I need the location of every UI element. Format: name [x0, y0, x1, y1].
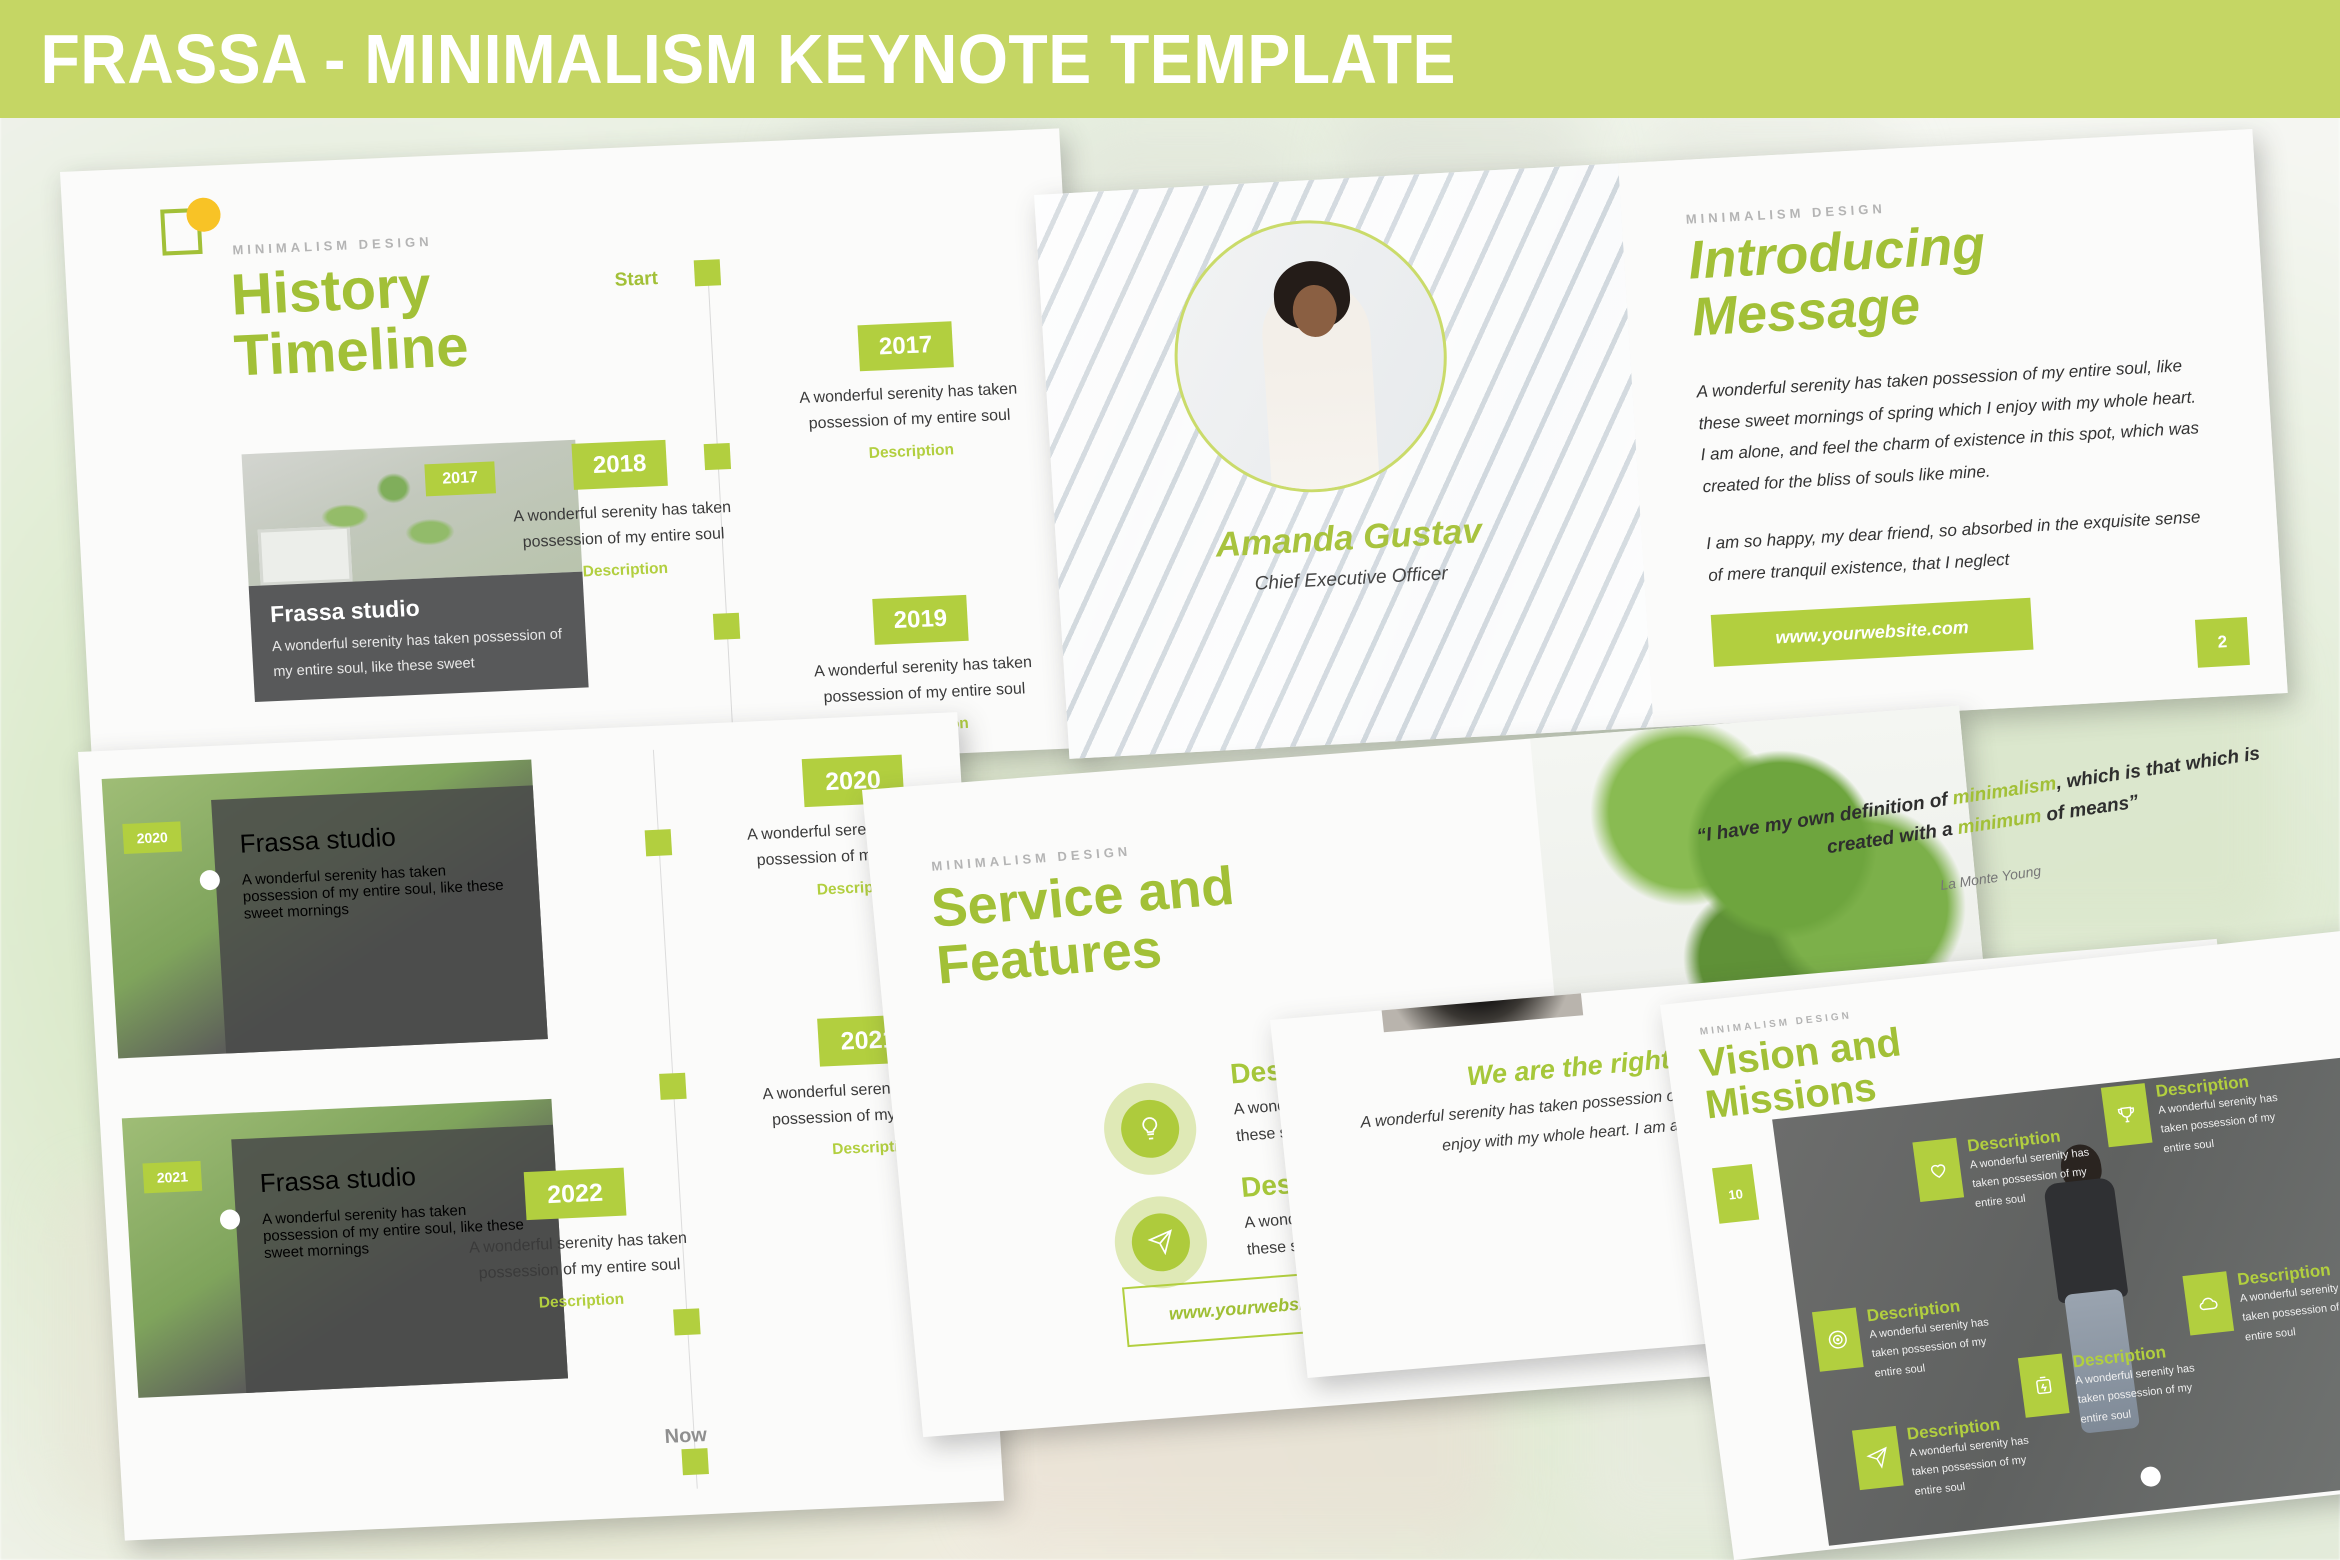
- timeline-node: [713, 613, 740, 640]
- paper-plane-icon: [1111, 1193, 1211, 1292]
- timeline-item-link[interactable]: Description: [766, 437, 1057, 468]
- timeline-item-text: A wonderful serenity has taken possessio…: [427, 1224, 730, 1290]
- poster-title: FRASSA - MINIMALISM KEYNOTE TEMPLATE: [0, 19, 1456, 99]
- slide1-eyebrow: MINIMALISM DESIGN: [232, 234, 433, 258]
- timeline-row-body: A wonderful serenity has taken possessio…: [241, 859, 514, 922]
- timeline-year-badge: 2017: [857, 321, 953, 371]
- slide2-content: MINIMALISM DESIGN Introducing Message A …: [1618, 129, 2288, 727]
- slide3-timeline-axis: [653, 750, 698, 1489]
- poster-canvas: FRASSA - MINIMALISM KEYNOTE TEMPLATE MIN…: [0, 0, 2340, 1560]
- timeline-item-text: A wonderful serenity has taken possessio…: [477, 493, 770, 558]
- timeline-item[interactable]: 2018 A wonderful serenity has taken poss…: [474, 436, 771, 586]
- slide-vision-and-missions[interactable]: MINIMALISM DESIGN Vision and Missions 10…: [1660, 929, 2340, 1560]
- timeline-year-badge: 2019: [872, 595, 968, 645]
- timeline-node: [673, 1308, 701, 1335]
- paper-plane-icon: [1852, 1426, 1904, 1490]
- slide7-dot-icon: [2139, 1466, 2162, 1488]
- slide7-page-number: 10: [1712, 1164, 1759, 1224]
- slide-introducing-message[interactable]: Amanda Gustav Chief Executive Officer MI…: [1034, 129, 2288, 759]
- vision-card[interactable]: Description A wonderful serenity has tak…: [1812, 1292, 2009, 1389]
- slide4-title: Service and Features: [929, 858, 1242, 995]
- quote-highlight-minimalism: minimalism: [1951, 773, 2057, 809]
- timeline-node: [681, 1448, 709, 1475]
- timeline-item[interactable]: 2017 A wonderful serenity has taken poss…: [760, 317, 1057, 467]
- timeline-node: [645, 829, 673, 856]
- timeline-node: [694, 259, 721, 286]
- vision-card[interactable]: Description A wonderful serenity has tak…: [2101, 1068, 2298, 1165]
- slide-history-timeline[interactable]: MINIMALISM DESIGN History Timeline 2017 …: [60, 128, 1093, 791]
- timeline-row: 2020 Frassa studio A wonderful serenity …: [102, 759, 548, 1058]
- vision-card[interactable]: Description A wonderful serenity has tak…: [2182, 1256, 2340, 1353]
- slide1-card-heading: Frassa studio: [270, 588, 565, 628]
- slide2-paragraph-1: A wonderful serenity has taken possessio…: [1696, 350, 2204, 503]
- slide1-info-card: Frassa studio A wonderful serenity has t…: [249, 572, 589, 702]
- slide3-now-label: Now: [664, 1424, 708, 1449]
- slide2-page-number: 2: [2195, 617, 2250, 668]
- slide2-title: Introducing Message: [1687, 206, 2194, 347]
- timeline-year-badge: 2018: [571, 440, 667, 490]
- slide1-start-label: Start: [614, 268, 658, 292]
- vision-card[interactable]: Description A wonderful serenity has tak…: [1852, 1410, 2049, 1507]
- heart-icon: [1912, 1138, 1964, 1202]
- timeline-item-link[interactable]: Description: [480, 555, 771, 586]
- timeline-row-heading: Frassa studio: [239, 817, 511, 860]
- timeline-item[interactable]: 2022 A wonderful serenity has taken poss…: [424, 1163, 732, 1317]
- battery-icon: [2018, 1354, 2070, 1418]
- logo-dot-icon: [186, 197, 222, 232]
- slide1-card-body: A wonderful serenity has taken possessio…: [271, 622, 567, 686]
- slide1-title: History Timeline: [229, 254, 470, 387]
- timeline-row-badge: 2021: [143, 1161, 203, 1194]
- slide-timeline-continued[interactable]: 2020 Frassa studio A wonderful serenity …: [78, 712, 1004, 1541]
- timeline-row-badge: 2020: [122, 821, 182, 854]
- cloud-icon: [2182, 1271, 2234, 1335]
- slide2-photo: Amanda Gustav Chief Executive Officer: [1034, 163, 1654, 759]
- quote-highlight-minimum: minimum: [1956, 806, 2043, 839]
- timeline-node: [659, 1073, 687, 1100]
- timeline-item-text: A wonderful serenity has taken possessio…: [778, 648, 1071, 713]
- slide2-portrait-ring: [1166, 213, 1455, 499]
- slide2-paragraph-2: I am so happy, my dear friend, so absorb…: [1705, 501, 2209, 591]
- slide2-website-button[interactable]: www.yourwebsite.com: [1711, 598, 2034, 667]
- title-banner: FRASSA - MINIMALISM KEYNOTE TEMPLATE: [0, 0, 2340, 118]
- timeline-row-card: Frassa studio A wonderful serenity has t…: [211, 785, 548, 1053]
- slide7-photo-panel: Description A wonderful serenity has tak…: [1772, 1054, 2340, 1545]
- lightbulb-icon: [1100, 1080, 1200, 1179]
- timeline-item-text: A wonderful serenity has taken possessio…: [763, 375, 1056, 440]
- trophy-icon: [2101, 1083, 2153, 1147]
- timeline-year-badge: 2022: [524, 1168, 627, 1220]
- target-icon: [1812, 1308, 1864, 1372]
